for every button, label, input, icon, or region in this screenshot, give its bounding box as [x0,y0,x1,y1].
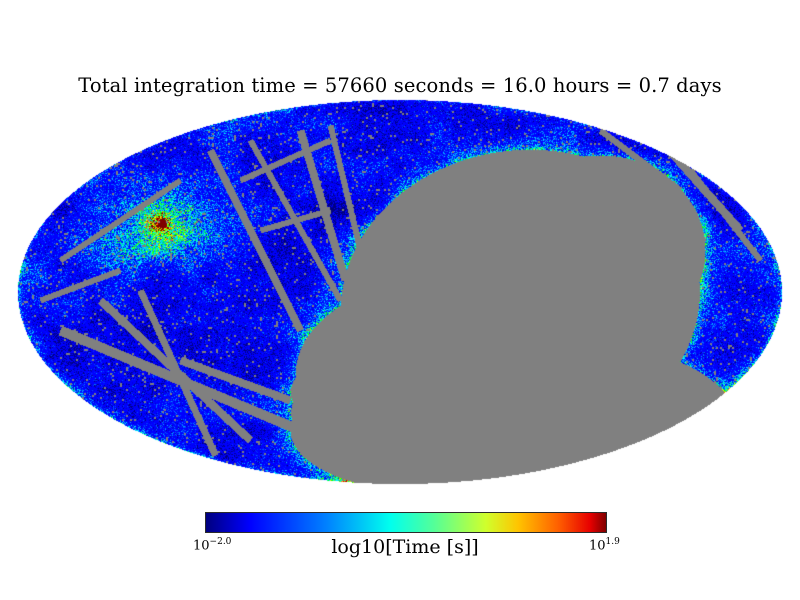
colorbar-label: log10[Time [s]] [205,536,605,558]
colorbar-gradient [205,512,607,533]
figure-root: Total integration time = 57660 seconds =… [0,0,800,600]
mollweide-sky-projection [0,95,800,495]
colorbar: 10−2.0 101.9 log10[Time [s]] [205,512,609,568]
sky-map [0,95,800,495]
colorbar-max-exponent: 1.9 [606,537,620,547]
page-title: Total integration time = 57660 seconds =… [0,74,800,97]
